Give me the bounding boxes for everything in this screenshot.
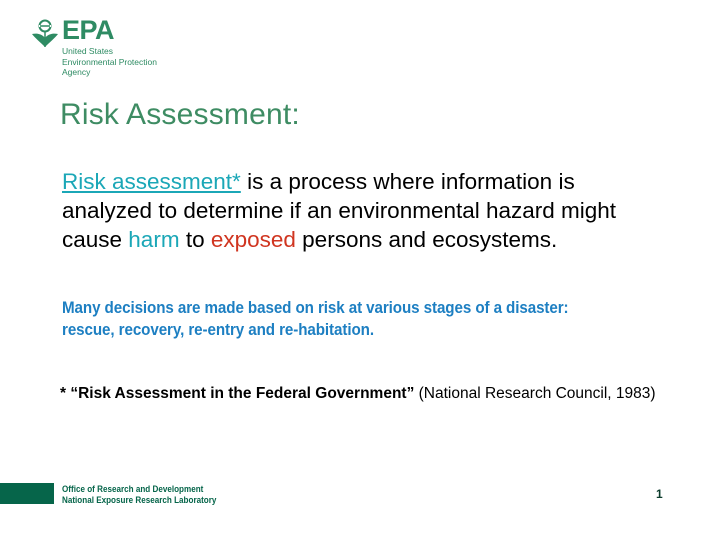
epa-logo: EPA United States Environmental Protecti… — [30, 17, 157, 78]
decisions-highlight-text: Many decisions are made based on risk at… — [62, 297, 614, 341]
presentation-slide: EPA United States Environmental Protecti… — [0, 0, 720, 540]
epa-seal-icon — [30, 19, 60, 49]
risk-assessment-link[interactable]: Risk assessment* — [62, 169, 241, 194]
footer-accent-bar — [0, 483, 54, 504]
epa-agency-name: United States Environmental Protection A… — [62, 46, 157, 78]
epa-wordmark-block: EPA United States Environmental Protecti… — [62, 17, 157, 78]
epa-wordmark: EPA — [62, 17, 157, 44]
footnote: * “Risk Assessment in the Federal Govern… — [60, 383, 660, 404]
footnote-citation: (National Research Council, 1983) — [414, 385, 655, 402]
definition-segment-2: to — [180, 227, 211, 252]
definition-segment-3: persons and ecosystems. — [296, 227, 557, 252]
footnote-title: * “Risk Assessment in the Federal Govern… — [60, 385, 414, 402]
definition-paragraph: Risk assessment* is a process where info… — [62, 167, 652, 254]
footer-org-lines: Office of Research and Development Natio… — [62, 484, 216, 506]
harm-emphasis: harm — [128, 227, 179, 252]
page-number: 1 — [656, 487, 663, 501]
page-title: Risk Assessment: — [60, 98, 300, 132]
exposed-emphasis: exposed — [211, 227, 296, 252]
